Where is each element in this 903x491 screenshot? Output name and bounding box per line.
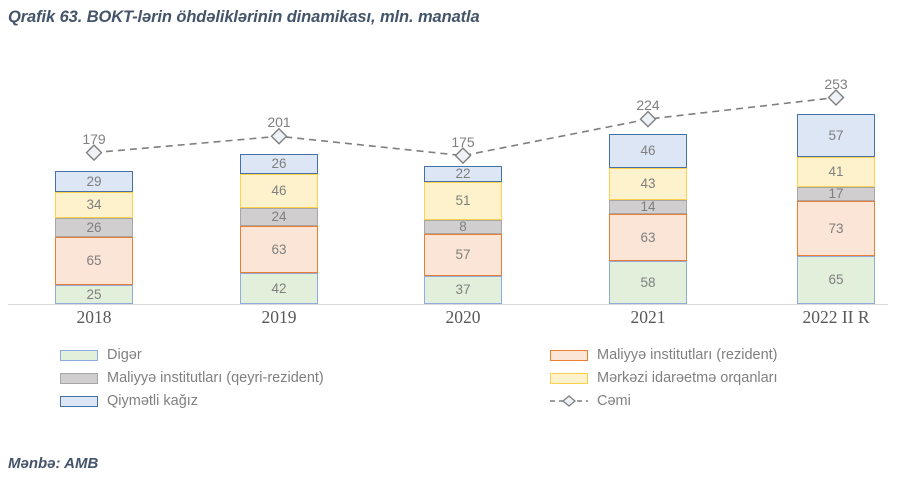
bar-segment: 14 [609, 200, 687, 214]
segment-value-label: 46 [640, 144, 655, 158]
segment-value-label: 58 [640, 276, 655, 290]
total-value-label: 179 [49, 131, 139, 147]
bar-group: 2646246342 [240, 154, 318, 304]
legend-item[interactable]: Cəmi [550, 390, 631, 412]
segment-value-label: 43 [640, 177, 655, 191]
bar-segment: 8 [424, 220, 502, 234]
category-label: 2018 [29, 307, 159, 328]
bar-segment: 65 [55, 237, 133, 285]
bar-group: 5741177365 [797, 114, 875, 304]
legend-line-marker-icon [550, 395, 588, 407]
segment-value-label: 8 [459, 220, 467, 234]
bar-segment: 25 [55, 285, 133, 304]
legend-label: Digər [107, 347, 142, 363]
legend-item[interactable]: Maliyyə institutları (qeyri-rezident) [60, 367, 324, 389]
segment-value-label: 24 [271, 210, 286, 224]
bar-segment: 41 [797, 157, 875, 188]
legend-label: Qiymətli kağız [107, 393, 198, 409]
category-label: 2020 [398, 307, 528, 328]
bar-segment: 42 [240, 273, 318, 304]
segment-value-label: 25 [86, 288, 101, 302]
total-marker-diamond [829, 90, 844, 105]
bar-segment: 46 [609, 134, 687, 168]
legend-item[interactable]: Maliyyə institutları (rezident) [550, 344, 778, 366]
bar-segment: 63 [609, 214, 687, 261]
segment-value-label: 14 [640, 200, 655, 214]
legend-swatch [550, 373, 588, 384]
legend-label: Mərkəzi idarəetmə orqanları [597, 370, 778, 386]
segment-value-label: 22 [455, 167, 470, 181]
legend-swatch [550, 350, 588, 361]
category-label: 2019 [214, 307, 344, 328]
bar-segment: 17 [797, 187, 875, 201]
legend-swatch [60, 350, 98, 361]
segment-value-label: 65 [828, 273, 843, 287]
segment-value-label: 51 [455, 194, 470, 208]
bar-segment: 29 [55, 171, 133, 193]
bar-segment: 51 [424, 182, 502, 220]
total-marker-diamond [272, 129, 287, 144]
chart-legend: DigərMaliyyə institutları (rezident)Mali… [0, 344, 903, 414]
segment-value-label: 65 [86, 254, 101, 268]
segment-value-label: 42 [271, 282, 286, 296]
bar-group: 2934266525 [55, 171, 133, 304]
segment-value-label: 26 [86, 221, 101, 235]
total-value-label: 175 [418, 134, 508, 150]
segment-value-label: 73 [828, 222, 843, 236]
bar-group: 225185737 [424, 166, 502, 304]
total-marker-diamond [87, 145, 102, 160]
page-title: Qrafik 63. BOKT-lərin öhdəliklərinin din… [8, 8, 480, 27]
segment-value-label: 57 [455, 248, 470, 262]
category-axis: 20182019202020212022 II R [0, 307, 903, 337]
bar-segment: 34 [55, 192, 133, 217]
segment-value-label: 37 [455, 283, 470, 297]
legend-label: Cəmi [597, 393, 631, 409]
segment-value-label: 63 [271, 243, 286, 257]
bar-group: 4643146358 [609, 134, 687, 304]
bar-segment: 22 [424, 166, 502, 182]
bar-segment: 57 [424, 234, 502, 276]
bar-segment: 58 [609, 261, 687, 304]
segment-value-label: 17 [828, 187, 843, 201]
legend-swatch [60, 396, 98, 407]
segment-value-label: 41 [828, 165, 843, 179]
legend-item[interactable]: Qiymətli kağız [60, 390, 198, 412]
category-label: 2022 II R [771, 307, 901, 328]
segment-value-label: 57 [828, 129, 843, 143]
total-value-label: 253 [791, 76, 881, 92]
legend-label: Maliyyə institutları (qeyri-rezident) [107, 370, 324, 386]
segment-value-label: 29 [86, 175, 101, 189]
category-label: 2021 [583, 307, 713, 328]
legend-swatch [60, 373, 98, 384]
total-marker-diamond [456, 148, 471, 163]
bar-segment: 24 [240, 208, 318, 226]
bar-segment: 26 [240, 154, 318, 173]
segment-value-label: 46 [271, 184, 286, 198]
bar-segment: 37 [424, 276, 502, 304]
chart-plot-area: 2934266525264624634222518573746431463585… [0, 45, 903, 305]
total-marker-diamond [641, 112, 656, 127]
bar-segment: 73 [797, 201, 875, 255]
source-note: Mənbə: AMB [8, 455, 98, 472]
bar-segment: 63 [240, 226, 318, 273]
bar-segment: 57 [797, 114, 875, 156]
segment-value-label: 26 [271, 157, 286, 171]
segment-value-label: 63 [640, 231, 655, 245]
total-value-label: 201 [234, 114, 324, 130]
segment-value-label: 34 [86, 198, 101, 212]
bar-segment: 65 [797, 256, 875, 304]
legend-item[interactable]: Mərkəzi idarəetmə orqanları [550, 367, 778, 389]
bar-segment: 43 [609, 168, 687, 200]
legend-label: Maliyyə institutları (rezident) [597, 347, 778, 363]
bar-segment: 26 [55, 218, 133, 237]
legend-item[interactable]: Digər [60, 344, 142, 366]
total-value-label: 224 [603, 97, 693, 113]
bar-segment: 46 [240, 174, 318, 208]
